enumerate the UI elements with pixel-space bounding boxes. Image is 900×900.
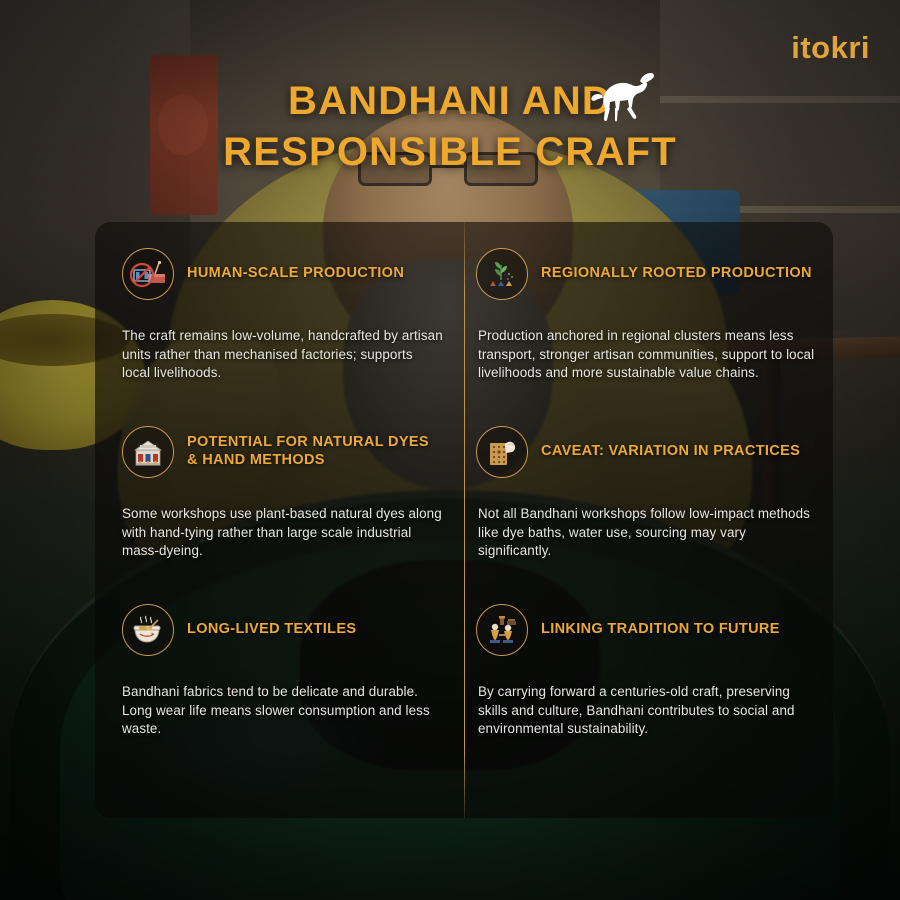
card-body: The craft remains low-volume, handcrafte… (122, 327, 444, 383)
card-body: Production anchored in regional clusters… (478, 327, 815, 383)
card-title: HUMAN-SCALE PRODUCTION (187, 265, 404, 283)
card-body: By carrying forward a centuries-old craf… (478, 683, 815, 739)
white-horse-mark-icon (574, 62, 660, 132)
page-title-line-1: BANDHANI AND (0, 76, 900, 127)
card-regionally-rooted-production: REGIONALLY ROOTED PRODUCTION Production … (464, 222, 833, 400)
card-title: LONG-LIVED TEXTILES (187, 621, 356, 639)
card-linking-tradition-to-future: LINKING TRADITION TO FUTURE By carrying … (464, 578, 833, 818)
two-artisans-icon (476, 604, 528, 656)
card-caveat-variation-in-practices: CAVEAT: VARIATION IN PRACTICES Not all B… (464, 400, 833, 578)
content-panel: HUMAN-SCALE PRODUCTION The craft remains… (95, 222, 833, 818)
card-header: CAVEAT: VARIATION IN PRACTICES (476, 400, 815, 478)
brand-logo-text: itokri (791, 32, 870, 63)
workshop-building-icon (122, 426, 174, 478)
card-body: Some workshops use plant-based natural d… (122, 505, 444, 561)
card-natural-dyes-hand-methods: POTENTIAL FOR NATURAL DYES & HAND METHOD… (95, 400, 464, 578)
card-body: Not all Bandhani workshops follow low-im… (478, 505, 815, 561)
card-body: Bandhani fabrics tend to be delicate and… (122, 683, 444, 739)
card-header: POTENTIAL FOR NATURAL DYES & HAND METHOD… (122, 400, 444, 478)
dye-pot-steam-icon (122, 604, 174, 656)
card-header: LONG-LIVED TEXTILES (122, 578, 444, 656)
page-title: BANDHANI AND RESPONSIBLE CRAFT (0, 76, 900, 178)
card-header: REGIONALLY ROOTED PRODUCTION (476, 222, 815, 300)
card-header: LINKING TRADITION TO FUTURE (476, 578, 815, 656)
card-header: HUMAN-SCALE PRODUCTION (122, 222, 444, 300)
card-human-scale-production: HUMAN-SCALE PRODUCTION The craft remains… (95, 222, 464, 400)
page-title-line-2: RESPONSIBLE CRAFT (0, 127, 900, 178)
card-title: REGIONALLY ROOTED PRODUCTION (541, 265, 812, 283)
hand-holding-bandhani-fabric-icon (476, 426, 528, 478)
card-title: CAVEAT: VARIATION IN PRACTICES (541, 443, 800, 461)
sprout-dye-mounds-icon (476, 248, 528, 300)
card-long-lived-textiles: LONG-LIVED TEXTILES Bandhani fabrics ten… (95, 578, 464, 818)
card-title: LINKING TRADITION TO FUTURE (541, 621, 780, 639)
cards-grid: HUMAN-SCALE PRODUCTION The craft remains… (95, 222, 833, 818)
card-title: POTENTIAL FOR NATURAL DYES & HAND METHOD… (187, 434, 444, 469)
itokri-logo[interactable]: itokri (791, 32, 870, 63)
no-machine-factory-icon (122, 248, 174, 300)
